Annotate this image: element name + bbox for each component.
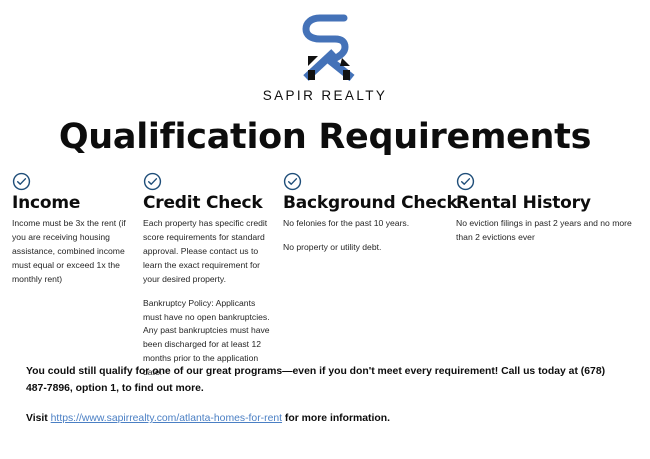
column-body-background-check-1: No felonies for the past 10 years. bbox=[283, 217, 446, 231]
column-body-background-check-2: No property or utility debt. bbox=[283, 241, 446, 255]
brand-logo-block: SAPIR REALTY bbox=[0, 0, 650, 103]
requirement-column-credit-check: Credit Check Each property has specific … bbox=[143, 172, 283, 380]
column-body-credit-check-1: Each property has specific credit score … bbox=[143, 217, 273, 287]
footer-visit-line: Visit https://www.sapirrealty.com/atlant… bbox=[0, 411, 650, 427]
footer-website-link[interactable]: https://www.sapirrealty.com/atlanta-home… bbox=[51, 413, 282, 424]
check-circle-icon bbox=[283, 172, 302, 191]
column-heading-income: Income bbox=[12, 194, 135, 213]
footer-callout: You could still qualify for one of our g… bbox=[0, 364, 650, 398]
check-circle-icon bbox=[456, 172, 475, 191]
check-circle-icon bbox=[143, 172, 162, 191]
check-circle-icon bbox=[12, 172, 31, 191]
column-heading-background-check: Background Check bbox=[283, 194, 446, 213]
requirements-columns: Income Income must be 3x the rent (if yo… bbox=[0, 172, 650, 380]
brand-wordmark: SAPIR REALTY bbox=[263, 88, 388, 103]
page-title: Qualification Requirements bbox=[0, 117, 650, 157]
column-body-rental-history-1: No eviction filings in past 2 years and … bbox=[456, 217, 644, 245]
requirement-column-income: Income Income must be 3x the rent (if yo… bbox=[0, 172, 143, 287]
requirement-column-rental-history: Rental History No eviction filings in pa… bbox=[456, 172, 650, 245]
column-body-income-1: Income must be 3x the rent (if you are r… bbox=[12, 217, 135, 287]
sapir-realty-monogram-icon bbox=[282, 12, 368, 86]
column-heading-rental-history: Rental History bbox=[456, 194, 644, 213]
footer-visit-suffix: for more information. bbox=[282, 413, 390, 424]
footer-visit-prefix: Visit bbox=[26, 413, 51, 424]
requirement-column-background-check: Background Check No felonies for the pas… bbox=[283, 172, 456, 255]
column-heading-credit-check: Credit Check bbox=[143, 194, 273, 213]
